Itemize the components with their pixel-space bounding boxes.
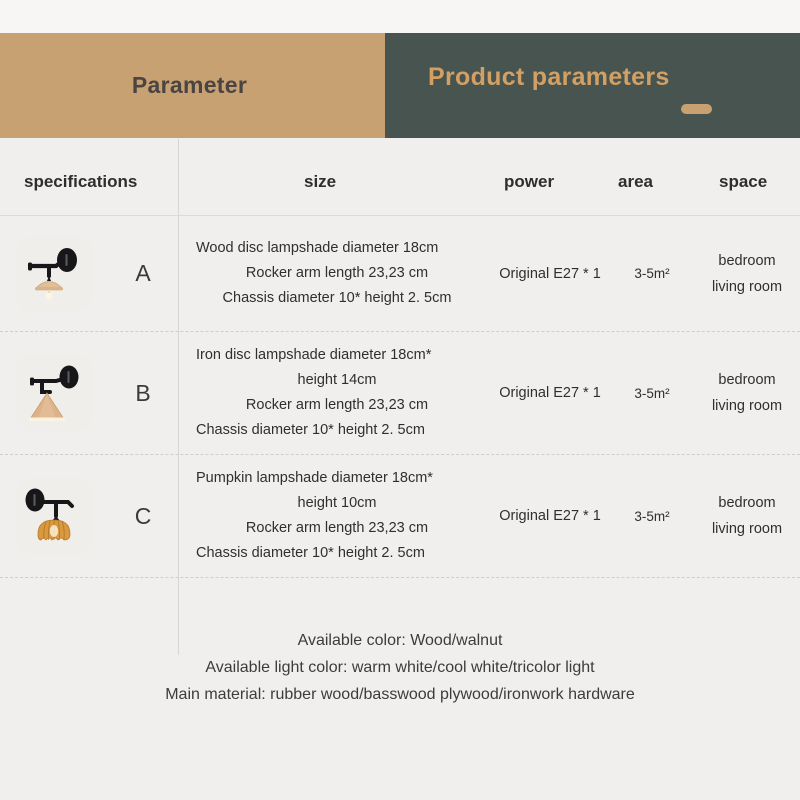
power-cell: Original E27 * 1 <box>490 385 610 401</box>
size-line: height 10cm <box>184 491 490 516</box>
column-header-area: area <box>618 172 653 192</box>
space-line: bedroom <box>694 490 800 516</box>
space-line: living room <box>694 393 800 419</box>
variant-letter: B <box>108 380 178 407</box>
footer-line-main-material: Main material: rubber wood/basswood plyw… <box>0 681 800 708</box>
size-line: Rocker arm length 23,23 cm <box>184 393 490 418</box>
column-header-specifications: specifications <box>24 172 137 192</box>
product-thumbnail-cell <box>0 236 108 312</box>
wall-lamp-wood-disc-icon <box>16 236 92 312</box>
area-cell: 3-5m² <box>610 266 694 281</box>
space-cell: bedroom living room <box>694 248 800 300</box>
product-thumbnail-cell <box>0 478 108 554</box>
column-header-power: power <box>504 172 554 192</box>
banner: Parameter Product parameters <box>0 33 800 138</box>
size-line: height 14cm <box>184 368 490 393</box>
space-cell: bedroom living room <box>694 367 800 419</box>
table-row[interactable]: A Wood disc lampshade diameter 18cm Rock… <box>0 216 800 332</box>
banner-accent-pill <box>681 104 712 114</box>
spec-table: specifications size power area space <box>0 138 800 578</box>
table-body: A Wood disc lampshade diameter 18cm Rock… <box>0 216 800 578</box>
area-cell: 3-5m² <box>610 509 694 524</box>
size-line: Chassis diameter 10* height 2. 5cm <box>184 286 490 311</box>
tab-product-parameters[interactable]: Product parameters <box>385 33 800 138</box>
top-strip <box>0 0 800 33</box>
size-line: Chassis diameter 10* height 2. 5cm <box>184 418 490 443</box>
tab-parameter[interactable]: Parameter <box>0 33 385 138</box>
footer-notes: Available color: Wood/walnut Available l… <box>0 627 800 708</box>
size-line: Rocker arm length 23,23 cm <box>184 261 490 286</box>
variant-letter: A <box>108 260 178 287</box>
size-cell: Iron disc lampshade diameter 18cm* heigh… <box>178 343 490 443</box>
size-line: Pumpkin lampshade diameter 18cm* <box>184 466 490 491</box>
table-header-row: specifications size power area space <box>0 138 800 216</box>
space-cell: bedroom living room <box>694 490 800 542</box>
variant-letter: C <box>108 503 178 530</box>
wall-lamp-pumpkin-icon <box>16 478 92 554</box>
wall-lamp-iron-cone-icon <box>16 355 92 431</box>
footer-line-available-light-color: Available light color: warm white/cool w… <box>0 654 800 681</box>
space-line: bedroom <box>694 248 800 274</box>
tab-parameter-label: Parameter <box>132 72 247 99</box>
size-line: Iron disc lampshade diameter 18cm* <box>184 343 490 368</box>
power-cell: Original E27 * 1 <box>490 266 610 282</box>
size-cell: Pumpkin lampshade diameter 18cm* height … <box>178 466 490 566</box>
size-cell: Wood disc lampshade diameter 18cm Rocker… <box>178 236 490 311</box>
footer-line-available-color: Available color: Wood/walnut <box>0 627 800 654</box>
column-header-space: space <box>719 172 767 192</box>
table-row[interactable]: C Pumpkin lampshade diameter 18cm* heigh… <box>0 455 800 578</box>
column-header-size: size <box>304 172 336 192</box>
power-cell: Original E27 * 1 <box>490 508 610 524</box>
space-line: living room <box>694 274 800 300</box>
area-cell: 3-5m² <box>610 386 694 401</box>
size-line: Wood disc lampshade diameter 18cm <box>184 236 490 261</box>
space-line: living room <box>694 516 800 542</box>
table-row[interactable]: B Iron disc lampshade diameter 18cm* hei… <box>0 332 800 455</box>
size-line: Rocker arm length 23,23 cm <box>184 516 490 541</box>
product-thumbnail-cell <box>0 355 108 431</box>
space-line: bedroom <box>694 367 800 393</box>
size-line: Chassis diameter 10* height 2. 5cm <box>184 541 490 566</box>
tab-product-parameters-label: Product parameters <box>428 63 670 92</box>
